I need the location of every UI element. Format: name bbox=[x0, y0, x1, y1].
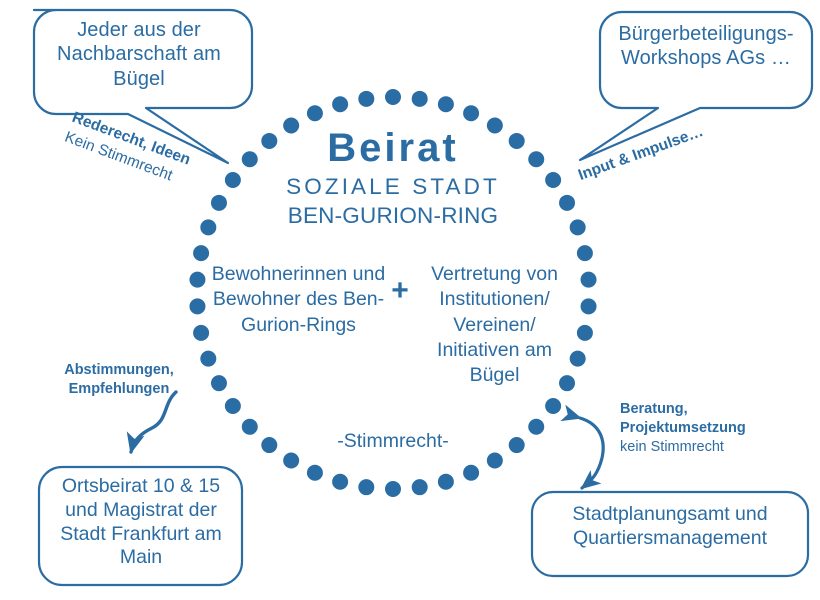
box-bottom-left-text: Ortsbeirat 10 & 15 und Magistrat der Sta… bbox=[44, 475, 238, 570]
voting-right-note: -Stimmrecht- bbox=[303, 430, 483, 454]
ring-dot bbox=[358, 91, 374, 107]
ring-dot bbox=[577, 245, 593, 261]
ring-dot bbox=[200, 219, 216, 235]
ring-dot bbox=[559, 195, 575, 211]
ring-dot bbox=[463, 465, 479, 481]
ring-dot bbox=[307, 465, 323, 481]
ring-dot bbox=[577, 325, 593, 341]
ring-dot bbox=[545, 398, 561, 414]
ring-dot bbox=[200, 351, 216, 367]
ring-dot bbox=[242, 419, 258, 435]
ring-dot bbox=[189, 298, 205, 314]
ring-dot bbox=[189, 272, 205, 288]
ring-dot bbox=[570, 219, 586, 235]
ring-dot bbox=[358, 479, 374, 495]
ring-dot bbox=[545, 172, 561, 188]
arrow-label-beratung-regular: kein Stimmrecht bbox=[620, 438, 802, 457]
ring-dot bbox=[412, 91, 428, 107]
ring-dot bbox=[332, 96, 348, 112]
ring-dot bbox=[438, 474, 454, 490]
ring-dot bbox=[581, 272, 597, 288]
ring-dot bbox=[570, 351, 586, 367]
ring-dot bbox=[487, 452, 503, 468]
page-subtitle-line2: BEN-GURION-RING bbox=[243, 205, 543, 228]
ring-dot bbox=[509, 437, 525, 453]
diagram-canvas: Jeder aus der Nachbarschaft am Bügel Bür… bbox=[0, 0, 820, 600]
ring-dot bbox=[193, 245, 209, 261]
arrow-to-ortsbeirat bbox=[131, 392, 176, 452]
members-column-right: Vertretung von Institutionen/ Vereinen/ … bbox=[423, 262, 566, 389]
arrow-label-beratung-bold: Beratung, Projektumsetzung bbox=[620, 400, 802, 438]
arrow-label-beratung: Beratung, Projektumsetzung kein Stimmrec… bbox=[620, 400, 802, 457]
members-column-left: Bewohnerinnen und Bewohner des Ben-Gurio… bbox=[206, 262, 391, 338]
ring-dot bbox=[261, 437, 277, 453]
ring-dot bbox=[438, 96, 454, 112]
ring-dot bbox=[528, 419, 544, 435]
box-bottom-right-text: Stadtplanungsamt und Quartiersmanagement bbox=[538, 503, 802, 551]
ring-dot bbox=[307, 105, 323, 121]
arrow-stadtplanungsamt bbox=[580, 418, 603, 488]
ring-dot bbox=[211, 375, 227, 391]
ring-dot bbox=[283, 452, 299, 468]
page-title: Beirat bbox=[243, 128, 543, 168]
arrow-label-abstimmungen: Abstimmungen, Empfehlungen bbox=[44, 361, 194, 399]
page-subtitle-line1: SOZIALE STADT bbox=[243, 176, 543, 199]
ring-dot bbox=[581, 298, 597, 314]
ring-dot bbox=[225, 398, 241, 414]
ring-dot bbox=[385, 481, 401, 497]
plus-icon: + bbox=[385, 276, 415, 306]
ring-dot bbox=[385, 89, 401, 105]
bubble-top-right-text: Bürgerbeteiligungs- Workshops AGs … bbox=[608, 22, 804, 71]
ring-dot bbox=[412, 479, 428, 495]
ring-dot bbox=[332, 474, 348, 490]
ring-dot bbox=[225, 172, 241, 188]
ring-dot bbox=[463, 105, 479, 121]
bubble-top-left-text: Jeder aus der Nachbarschaft am Bügel bbox=[38, 18, 240, 91]
